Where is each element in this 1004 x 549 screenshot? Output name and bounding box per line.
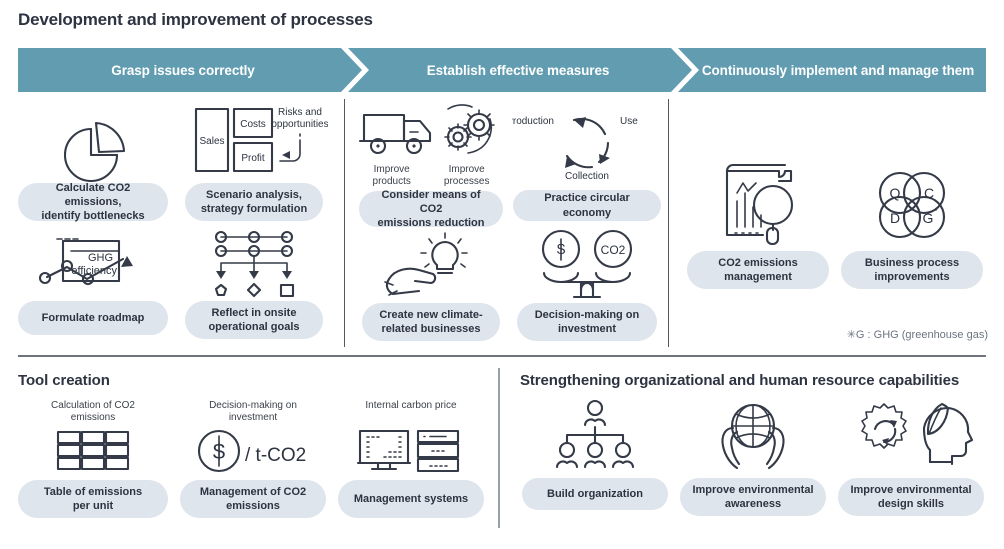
- hand-lightbulb-icon: [371, 223, 491, 303]
- footnote-ghg: ✳G : GHG (greenhouse gas): [847, 328, 988, 341]
- svg-text:CO2: CO2: [601, 243, 626, 257]
- pill-text-line: Decision-making oninvestment: [535, 308, 640, 336]
- pill-text-line: Management of CO2emissions: [200, 485, 306, 513]
- svg-text:*: *: [934, 207, 937, 216]
- bottom-column-divider: [498, 368, 500, 528]
- section-divider: [18, 355, 986, 357]
- pill-label: Consider means of CO2emissions reduction: [359, 191, 503, 227]
- stage-label: Establish effective measures: [427, 63, 610, 78]
- cell-build-organization[interactable]: Build organization: [522, 396, 668, 510]
- org-chart-icon: [545, 396, 645, 472]
- stage-label: Grasp issues correctly: [111, 63, 254, 78]
- pill-text-line: Improve environmentalawareness: [692, 483, 813, 511]
- cell-circular-economy[interactable]: Production Use Collection Practice circu…: [512, 97, 662, 221]
- svg-text:Costs: Costs: [240, 119, 266, 130]
- report-magnifier-icon: [703, 155, 813, 251]
- cell-co2-management[interactable]: CO2 emissionsmanagement: [686, 155, 830, 289]
- pill-text-line: Create new climate-related businesses: [379, 308, 482, 336]
- ghg-efficiency-chart-icon: GHG efficiency: [27, 223, 159, 301]
- top-content-region: Calculate CO2 emissions,identify bottlen…: [0, 95, 1004, 350]
- pill-text-line: Management systems: [354, 492, 468, 506]
- cell-calculate-co2[interactable]: Calculate CO2 emissions,identify bottlen…: [18, 97, 168, 221]
- svg-text:opportunities: opportunities: [271, 119, 328, 130]
- column-divider-2: [668, 99, 669, 347]
- monitor-server-icon: [356, 426, 466, 474]
- svg-text:G: G: [923, 210, 934, 226]
- pill-text-line: Reflect in onsiteoperational goals: [208, 306, 299, 334]
- svg-text:C: C: [924, 185, 934, 201]
- svg-text:D: D: [890, 210, 900, 226]
- pill-text-line: Build organization: [547, 487, 643, 501]
- bottom-region: Tool creation Strengthening organization…: [0, 362, 1004, 549]
- column-divider-1: [344, 99, 345, 347]
- icon-caption: Improveproducts: [373, 164, 411, 188]
- cell-table-of-emissions[interactable]: Calculation of CO2emissions Table of emi…: [18, 400, 168, 518]
- pill-label: Decision-making oninvestment: [517, 303, 657, 341]
- pill-label: Formulate roadmap: [18, 301, 168, 335]
- pill-text-line: Formulate roadmap: [42, 311, 145, 325]
- pill-label: Management systems: [338, 480, 484, 518]
- stage-arrow-implement-manage[interactable]: Continuously implement and manage them: [678, 48, 986, 92]
- cell-improve-awareness[interactable]: Improve environmentalawareness: [680, 396, 826, 516]
- balance-scale-icon: $ CO2: [524, 223, 650, 303]
- svg-text:Use: Use: [620, 116, 638, 127]
- pill-label: Management of CO2emissions: [180, 480, 326, 518]
- stage-arrow-grasp-issues[interactable]: Grasp issues correctly: [18, 48, 362, 92]
- stage-arrow-effective-measures[interactable]: Establish effective measures: [348, 48, 692, 92]
- circular-arrows-icon: Production Use Collection: [512, 97, 662, 189]
- pill-label: Create new climate-related businesses: [362, 303, 500, 341]
- pill-text-line: Improve environmentaldesign skills: [850, 483, 971, 511]
- pill-label: Calculate CO2 emissions,identify bottlen…: [18, 183, 168, 221]
- pill-text-line: Scenario analysis,strategy formulation: [201, 188, 307, 216]
- svg-text:Profit: Profit: [241, 153, 265, 164]
- icon-caption-group: Improveproducts Improveprocesses: [356, 164, 506, 188]
- hands-globe-icon: [703, 396, 803, 472]
- pill-label: Business processimprovements: [841, 251, 983, 289]
- process-stage-band: Grasp issues correctly Establish effecti…: [18, 48, 986, 92]
- icon-caption: Improveprocesses: [444, 164, 490, 188]
- truck-gears-icon: [356, 97, 506, 163]
- icon-caption: Decision-making oninvestment: [209, 400, 297, 426]
- pill-label: Reflect in onsiteoperational goals: [185, 301, 323, 339]
- pill-label: Improve environmentaldesign skills: [838, 478, 984, 516]
- bar-blocks-icon: Sales Costs Profit Risks and opportuniti…: [180, 97, 328, 183]
- pill-text-line: Practice circular economy: [523, 191, 651, 219]
- pill-text-line: Calculate CO2 emissions,identify bottlen…: [28, 181, 158, 223]
- cell-management-systems[interactable]: Internal carbon price Management systems: [338, 400, 484, 518]
- pie-chart-icon: [50, 97, 136, 183]
- svg-text:Collection: Collection: [565, 171, 609, 182]
- svg-text:Q: Q: [890, 185, 901, 201]
- dollar-per-tco2-icon: $ / t-CO2: [195, 426, 311, 474]
- cell-management-of-co2[interactable]: Decision-making oninvestment $ / t-CO2 M…: [178, 400, 328, 518]
- cell-formulate-roadmap[interactable]: GHG efficiency Formulate roadmap: [18, 223, 168, 335]
- stage-label: Continuously implement and manage them: [702, 63, 974, 78]
- pill-label: Table of emissionsper unit: [18, 480, 168, 518]
- pill-label: Build organization: [522, 478, 668, 510]
- svg-text:GHG: GHG: [88, 252, 113, 264]
- cell-consider-means[interactable]: Improveproducts Improveprocesses Conside…: [358, 97, 504, 227]
- grid-table-icon: [54, 426, 132, 474]
- section-title-org-capabilities: Strengthening organizational and human r…: [520, 372, 959, 389]
- svg-text:Production: Production: [512, 116, 554, 127]
- pill-text-line: Business processimprovements: [865, 256, 959, 284]
- icon-caption: Internal carbon price: [365, 400, 456, 426]
- cell-decision-investment[interactable]: $ CO2 Decision-making oninvestment: [512, 223, 662, 341]
- pill-text-line: CO2 emissionsmanagement: [718, 256, 797, 284]
- cell-scenario-analysis[interactable]: Sales Costs Profit Risks and opportuniti…: [180, 97, 328, 221]
- section-title-tool-creation: Tool creation: [18, 372, 110, 389]
- svg-text:/ t-CO2: / t-CO2: [245, 445, 306, 466]
- svg-text:Sales: Sales: [199, 136, 224, 147]
- pill-text-line: Table of emissionsper unit: [44, 485, 142, 513]
- cell-reflect-onsite[interactable]: Reflect in onsiteoperational goals: [180, 223, 328, 339]
- pill-label: CO2 emissionsmanagement: [687, 251, 829, 289]
- qcdg-circles-icon: Q C D G *: [857, 155, 967, 251]
- icon-caption: Calculation of CO2emissions: [51, 400, 135, 426]
- page-title: Development and improvement of processes: [18, 10, 373, 30]
- svg-text:Risks and: Risks and: [278, 107, 322, 118]
- cell-business-process[interactable]: Q C D G * Business processimprovements: [840, 155, 984, 289]
- pill-label: Improve environmentalawareness: [680, 478, 826, 516]
- cell-improve-design-skills[interactable]: Improve environmentaldesign skills: [838, 396, 984, 516]
- infographic-page: Development and improvement of processes…: [0, 0, 1004, 549]
- pill-label: Scenario analysis,strategy formulation: [185, 183, 323, 221]
- gear-head-leaf-icon: [846, 396, 976, 472]
- pill-label: Practice circular economy: [513, 190, 661, 221]
- cell-new-climate-business[interactable]: Create new climate-related businesses: [358, 223, 504, 341]
- network-shapes-icon: [199, 223, 309, 301]
